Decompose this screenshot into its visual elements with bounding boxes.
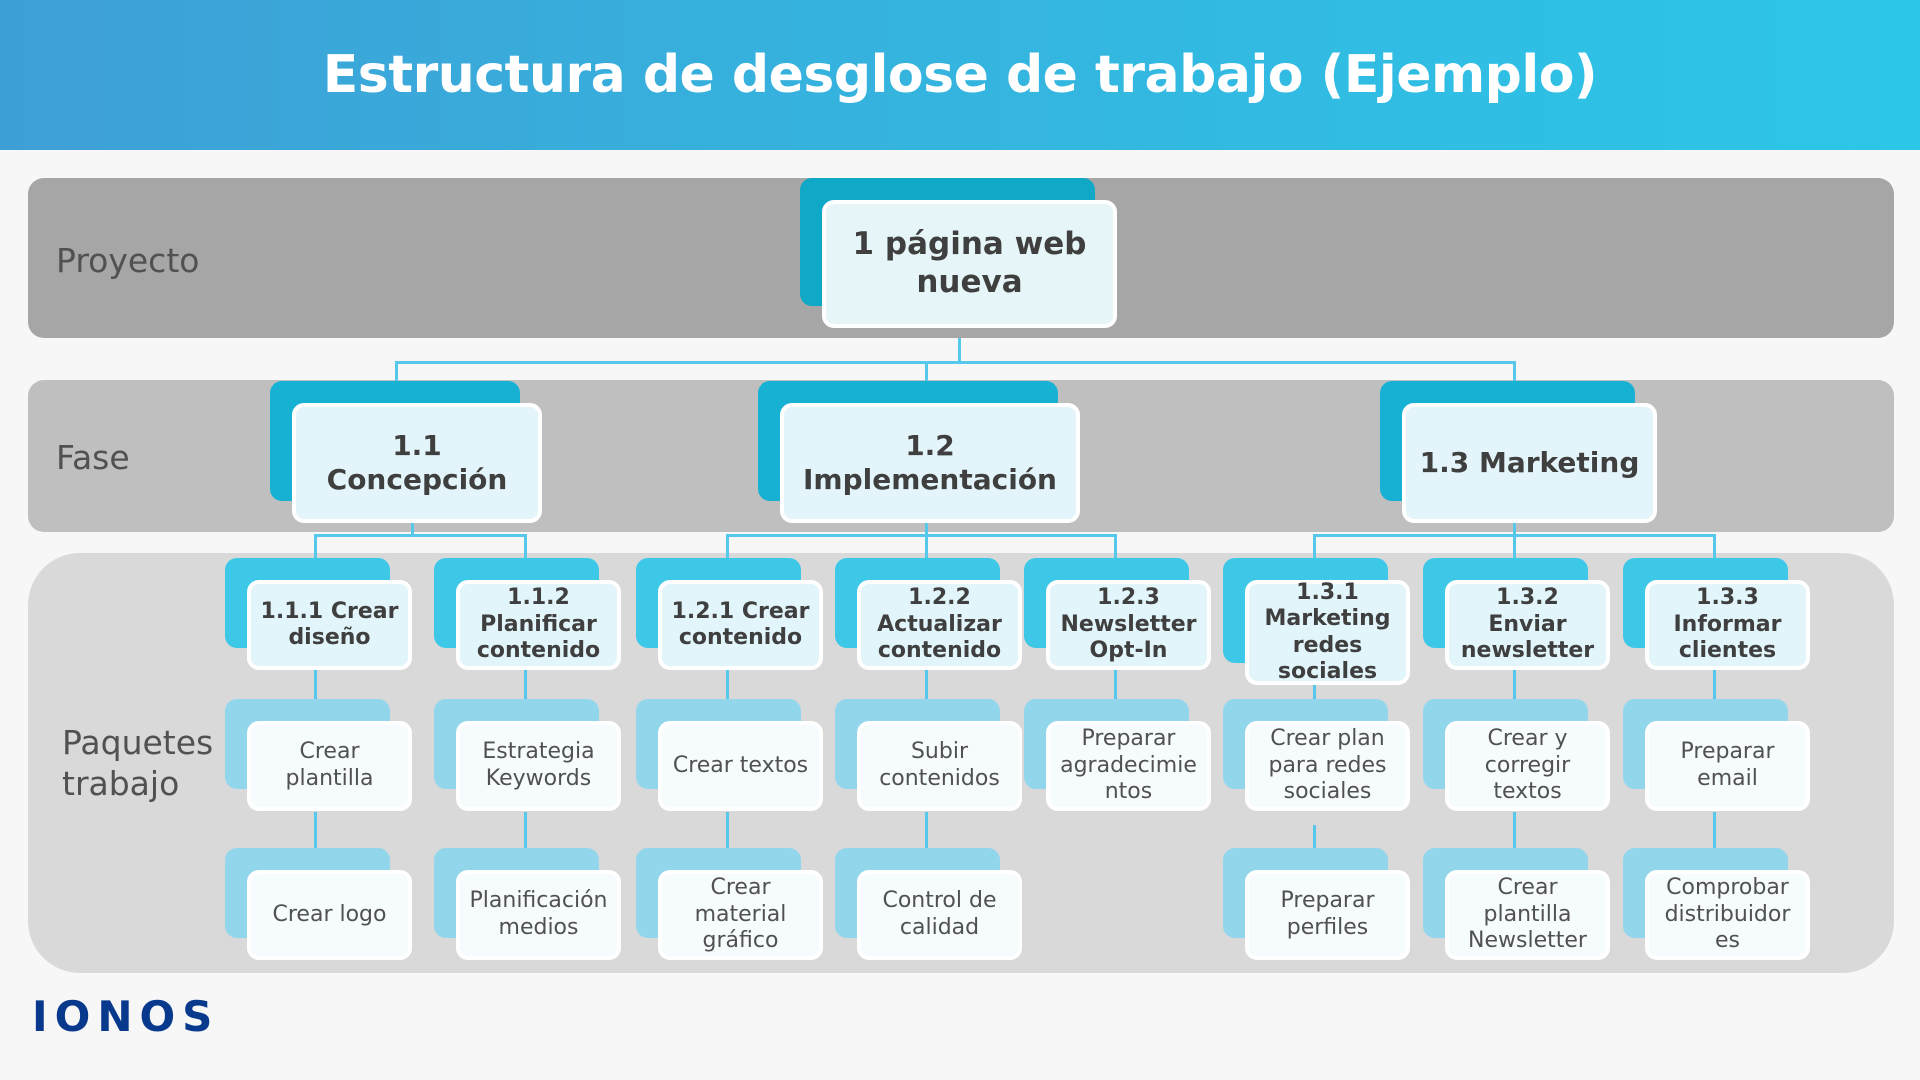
node-label: 1.3.2 Enviar newsletter — [1445, 580, 1610, 670]
node-label: Crear logo — [247, 870, 412, 960]
connector-pkg1-to-pkg2-e — [1313, 825, 1316, 848]
connector-pkg1-to-pkg2-f — [1513, 812, 1516, 848]
node-task-1-2-3[interactable]: 1.2.3 Newsletter Opt-In — [1024, 558, 1189, 648]
node-label: 1.1.2 Planificar contenido — [456, 580, 621, 670]
node-label: Planificación medios — [456, 870, 621, 960]
node-label: Control de calidad — [857, 870, 1022, 960]
row-label-phase: Fase — [56, 437, 130, 478]
node-label: 1.3.3 Informar clientes — [1645, 580, 1810, 670]
node-label: Crear y corregir textos — [1445, 721, 1610, 811]
connector-task7-to-pkg — [1513, 665, 1516, 699]
node-task-1-3-1[interactable]: 1.3.1 Marketing redes sociales — [1223, 558, 1388, 663]
node-label: 1.2 Implementación — [780, 403, 1080, 523]
connector-task8-to-pkg — [1713, 665, 1716, 699]
row-label-project: Proyecto — [56, 240, 199, 281]
connector-task-drop-2 — [524, 534, 527, 558]
node-label: Preparar agradecimie ntos — [1046, 721, 1211, 811]
node-label: 1.2.2 Actualizar contenido — [857, 580, 1022, 670]
connector-pkg1-to-pkg2-c — [726, 812, 729, 848]
connector-pkg1-to-pkg2-b — [524, 812, 527, 848]
node-label: Subir contenidos — [857, 721, 1022, 811]
connector-phase-drop-2 — [925, 361, 928, 383]
connector-task2-to-pkg — [524, 665, 527, 699]
node-package-r1-c8[interactable]: Preparar email — [1623, 699, 1788, 789]
node-package-r1-c7[interactable]: Crear y corregir textos — [1423, 699, 1588, 789]
node-label: 1.3.1 Marketing redes sociales — [1245, 580, 1410, 685]
node-package-r1-c3[interactable]: Crear textos — [636, 699, 801, 789]
connector-pkg1-to-pkg2-a — [314, 812, 317, 848]
wbs-diagram: Estructura de desglose de trabajo (Ejemp… — [0, 0, 1920, 1080]
connector-phase1-bus — [314, 534, 527, 537]
node-label: Estrategia Keywords — [456, 721, 621, 811]
node-package-r1-c2[interactable]: Estrategia Keywords — [434, 699, 599, 789]
node-label: Crear material gráfico — [658, 870, 823, 960]
node-task-1-3-2[interactable]: 1.3.2 Enviar newsletter — [1423, 558, 1588, 648]
node-task-1-2-2[interactable]: 1.2.2 Actualizar contenido — [835, 558, 1000, 648]
node-phase-1-2[interactable]: 1.2 Implementación — [758, 381, 1058, 501]
node-label: Crear plantilla — [247, 721, 412, 811]
node-project[interactable]: 1 página web nueva — [800, 178, 1095, 306]
node-label: 1.1 Concepción — [292, 403, 542, 523]
connector-phase2-bus — [726, 534, 1117, 537]
row-label-workpackages: Paquetes trabajo — [62, 722, 213, 805]
connector-task4-to-pkg — [925, 665, 928, 699]
node-task-1-1-2[interactable]: 1.1.2 Planificar contenido — [434, 558, 599, 648]
node-task-1-1-1[interactable]: 1.1.1 Crear diseño — [225, 558, 390, 648]
node-package-r2-c3[interactable]: Crear material gráfico — [636, 848, 801, 938]
node-phase-1-3[interactable]: 1.3 Marketing — [1380, 381, 1635, 501]
connector-project-stem — [958, 338, 961, 363]
connector-task-drop-8 — [1713, 534, 1716, 558]
node-label: Comprobar distribuidor es — [1645, 870, 1810, 960]
connector-task5-to-pkg — [1114, 665, 1117, 699]
node-label: Crear plan para redes sociales — [1245, 721, 1410, 811]
node-package-r2-c8[interactable]: Comprobar distribuidor es — [1623, 848, 1788, 938]
connector-task-drop-1 — [314, 534, 317, 558]
node-package-r2-c6[interactable]: Preparar perfiles — [1223, 848, 1388, 938]
page-title: Estructura de desglose de trabajo (Ejemp… — [0, 0, 1920, 150]
connector-pkg1-to-pkg2-g — [1713, 812, 1716, 848]
node-label: Crear textos — [658, 721, 823, 811]
connector-task-drop-4 — [925, 534, 928, 558]
node-phase-1-1[interactable]: 1.1 Concepción — [270, 381, 520, 501]
page-header: Estructura de desglose de trabajo (Ejemp… — [0, 0, 1920, 150]
node-package-r2-c7[interactable]: Crear plantilla Newsletter — [1423, 848, 1588, 938]
node-label: Crear plantilla Newsletter — [1445, 870, 1610, 960]
node-package-r2-c1[interactable]: Crear logo — [225, 848, 390, 938]
connector-task-drop-6 — [1313, 534, 1316, 558]
node-task-1-3-3[interactable]: 1.3.3 Informar clientes — [1623, 558, 1788, 648]
connector-phase-bus — [395, 361, 1516, 364]
node-package-r1-c4[interactable]: Subir contenidos — [835, 699, 1000, 789]
connector-task1-to-pkg — [314, 665, 317, 699]
connector-task-drop-5 — [1114, 534, 1117, 558]
connector-task3-to-pkg — [726, 665, 729, 699]
node-package-r2-c2[interactable]: Planificación medios — [434, 848, 599, 938]
connector-task-drop-3 — [726, 534, 729, 558]
node-label: 1.2.1 Crear contenido — [658, 580, 823, 670]
node-label: Preparar perfiles — [1245, 870, 1410, 960]
connector-task-drop-7 — [1513, 534, 1516, 558]
node-package-r2-c4[interactable]: Control de calidad — [835, 848, 1000, 938]
ionos-logo: IONOS — [32, 992, 219, 1041]
node-package-r1-c5[interactable]: Preparar agradecimie ntos — [1024, 699, 1189, 789]
node-label: 1 página web nueva — [822, 200, 1117, 328]
node-label: 1.1.1 Crear diseño — [247, 580, 412, 670]
node-label: 1.2.3 Newsletter Opt-In — [1046, 580, 1211, 670]
connector-pkg1-to-pkg2-d — [925, 812, 928, 848]
node-task-1-2-1[interactable]: 1.2.1 Crear contenido — [636, 558, 801, 648]
node-label: 1.3 Marketing — [1402, 403, 1657, 523]
connector-phase-drop-3 — [1513, 361, 1516, 383]
node-label: Preparar email — [1645, 721, 1810, 811]
node-package-r1-c1[interactable]: Crear plantilla — [225, 699, 390, 789]
node-package-r1-c6[interactable]: Crear plan para redes sociales — [1223, 699, 1388, 789]
connector-phase-drop-1 — [395, 361, 398, 383]
